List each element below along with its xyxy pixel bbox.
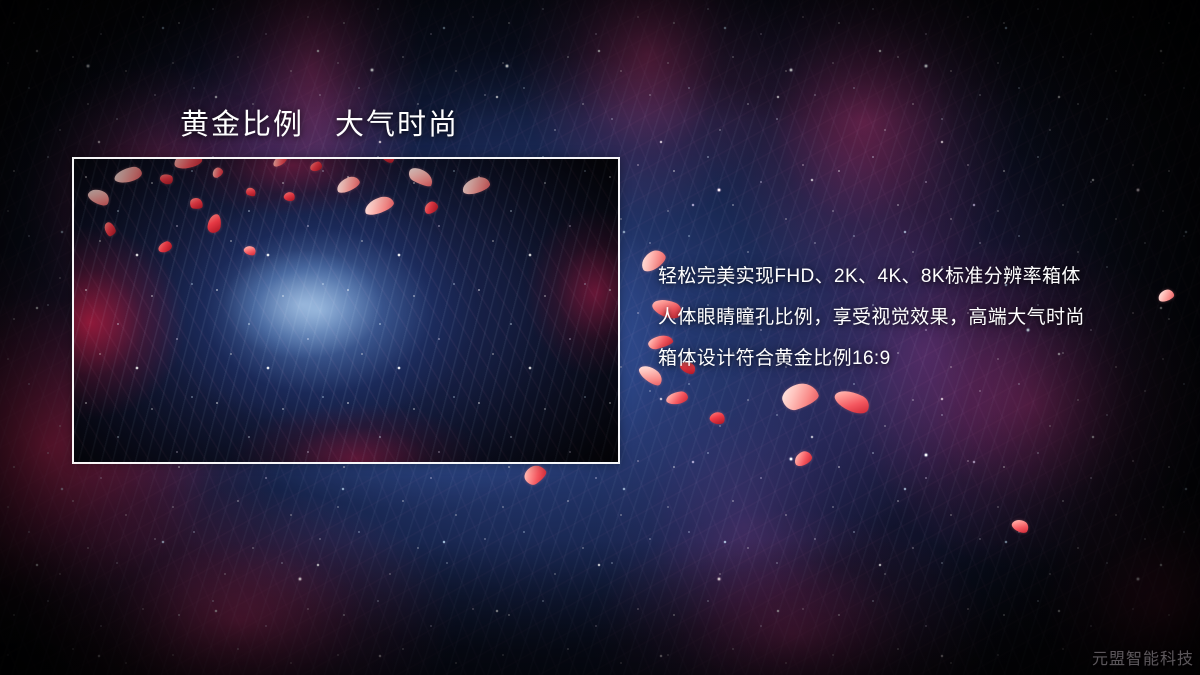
petal (521, 461, 549, 487)
framed-photo (72, 157, 620, 464)
body-line-3: 箱体设计符合黄金比例16:9 (658, 338, 1128, 379)
body-copy: 轻松完美实现FHD、2K、4K、8K标准分辨率箱体 人体眼睛瞳孔比例，享受视觉效… (658, 256, 1128, 379)
petal (709, 410, 727, 426)
petal (832, 385, 873, 418)
photo-vignette (74, 159, 618, 462)
petal (665, 391, 688, 406)
body-line-2: 人体眼睛瞳孔比例，享受视觉效果，高端大气时尚 (658, 297, 1128, 338)
petal (1010, 517, 1031, 536)
petal (1157, 288, 1175, 303)
slide-canvas: 黄金比例 大气时尚 轻松完美实现FHD、2K、4K、8K标准分辨率箱体 人体眼睛… (0, 0, 1200, 675)
petal (779, 379, 821, 413)
body-line-1: 轻松完美实现FHD、2K、4K、8K标准分辨率箱体 (658, 256, 1128, 297)
page-title: 黄金比例 大气时尚 (180, 101, 459, 143)
petal (792, 449, 814, 468)
watermark: 元盟智能科技 (1092, 645, 1194, 669)
